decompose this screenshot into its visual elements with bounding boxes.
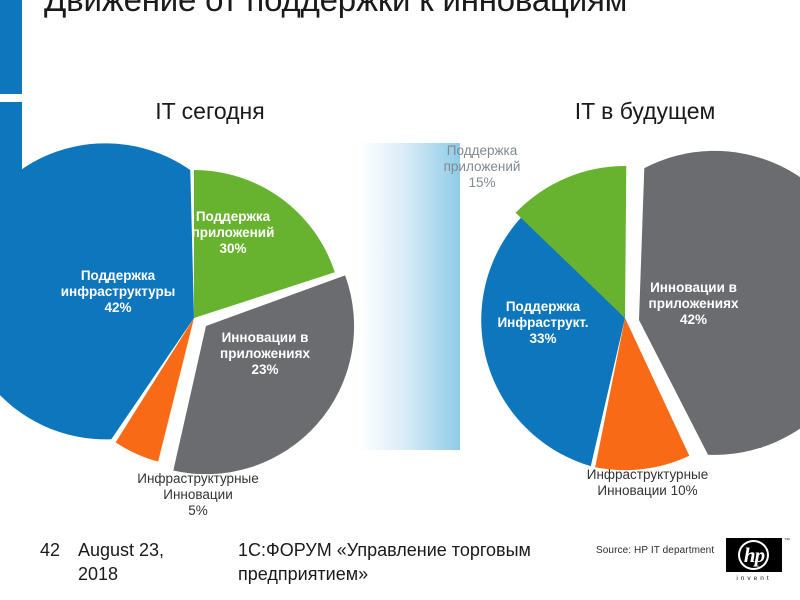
chart-heading-left: IT сегодня	[120, 96, 300, 126]
chart-heading-right: IT в будущем	[500, 96, 790, 126]
pie-chart-it-future	[470, 158, 780, 478]
transition-gradient-band	[360, 143, 460, 450]
pie-chart-it-today-svg	[44, 168, 344, 478]
slide-canvas: Движение от поддержки к инновациям IT се…	[0, 0, 800, 600]
hp-logo-trademark: ™	[784, 538, 790, 544]
accent-bar-top	[0, 0, 22, 94]
footer-date: August 23, 2018	[78, 538, 198, 586]
source-note: Source: HP IT department	[596, 544, 714, 557]
page-title: Движение от поддержки к инновациям	[44, 0, 744, 22]
hp-logo-box: hp ™	[726, 538, 782, 572]
footer-event-name: 1C:ФОРУМ «Управление торговым предприяти…	[238, 538, 568, 586]
page-number: 42	[40, 538, 62, 562]
hp-logo: hp ™ invent	[726, 538, 784, 590]
hp-logo-tagline: invent	[726, 575, 782, 582]
pie-chart-it-future-svg	[470, 158, 780, 478]
hp-logo-letters: hp	[726, 538, 782, 572]
pie-chart-it-today	[44, 168, 344, 478]
pie-label-infra-innovation-today: Инфраструктурные Инновации 5%	[98, 471, 298, 519]
